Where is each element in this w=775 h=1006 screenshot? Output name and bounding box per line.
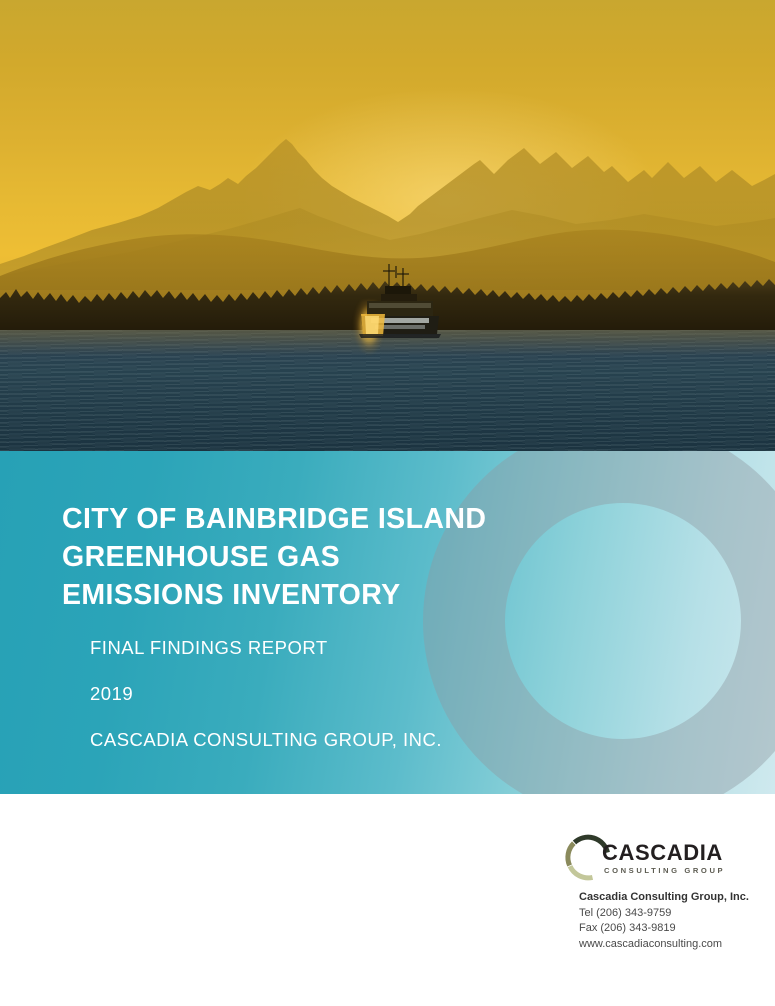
cover-title: CITY OF BAINBRIDGE ISLAND GREENHOUSE GAS… xyxy=(62,500,532,614)
puget-sound-water xyxy=(0,330,775,452)
title-banner: CITY OF BAINBRIDGE ISLAND GREENHOUSE GAS… xyxy=(0,451,775,794)
report-type-label: FINAL FINDINGS REPORT xyxy=(90,637,530,659)
logo-mark-row: CASCADIA CONSULTING GROUP xyxy=(560,832,740,884)
logo-company-name: CASCADIA xyxy=(602,841,725,865)
report-year-label: 2019 xyxy=(90,683,530,705)
washington-state-ferry xyxy=(345,258,455,344)
cover-title-line-1: CITY OF BAINBRIDGE ISLAND xyxy=(62,500,532,538)
cover-title-line-3: EMISSIONS INVENTORY xyxy=(62,576,532,614)
contact-info: Cascadia Consulting Group, Inc. Tel (206… xyxy=(579,890,775,952)
logo-tagline: CONSULTING GROUP xyxy=(604,866,725,876)
contact-fax: Fax (206) 343-9819 xyxy=(579,921,775,937)
page-footer: CASCADIA CONSULTING GROUP Cascadia Consu… xyxy=(0,794,775,1006)
contact-tel: Tel (206) 343-9759 xyxy=(579,906,775,922)
report-cover-page: CITY OF BAINBRIDGE ISLAND GREENHOUSE GAS… xyxy=(0,0,775,1006)
logo-wordmark: CASCADIA CONSULTING GROUP xyxy=(602,841,725,876)
report-author-label: CASCADIA CONSULTING GROUP, INC. xyxy=(90,729,530,751)
cover-subtitles: FINAL FINDINGS REPORT 2019 CASCADIA CONS… xyxy=(90,637,530,751)
cascadia-logo: CASCADIA CONSULTING GROUP Cascadia Consu… xyxy=(560,832,740,884)
contact-company: Cascadia Consulting Group, Inc. xyxy=(579,890,775,906)
contact-website[interactable]: www.cascadiaconsulting.com xyxy=(579,937,775,953)
cover-title-line-2: GREENHOUSE GAS xyxy=(62,538,532,576)
cover-photograph xyxy=(0,0,775,452)
